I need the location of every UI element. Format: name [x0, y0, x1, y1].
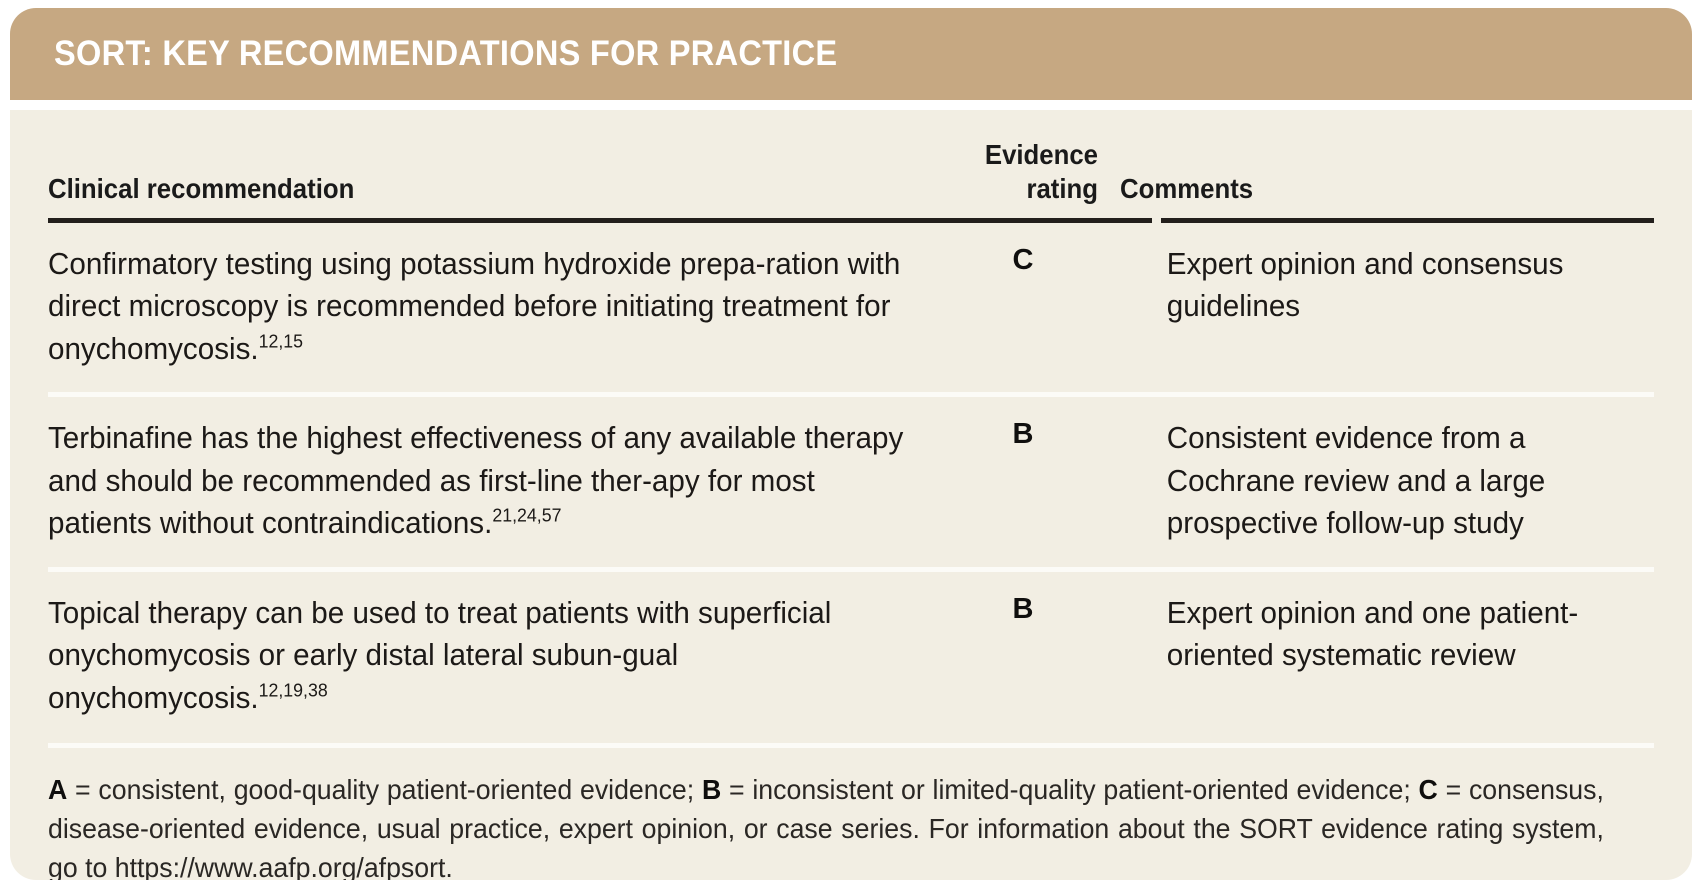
- cell-recommendation: Confirmatory testing using potassium hyd…: [48, 243, 908, 370]
- cell-recommendation: Terbinafine has the highest effectivenes…: [48, 417, 908, 544]
- cell-evidence-rating: C: [948, 243, 1098, 277]
- table-row: Topical therapy can be used to treat pat…: [48, 572, 1654, 741]
- page-title: SORT: KEY RECOMMENDATIONS FOR PRACTICE: [54, 34, 837, 74]
- footnote-label-b: B: [702, 774, 721, 805]
- footnote-label-a: A: [48, 774, 67, 805]
- column-header-comments: Comments: [1120, 172, 1253, 206]
- footnote-label-c: C: [1419, 774, 1438, 805]
- recommendation-references: 21,24,57: [492, 505, 561, 526]
- recommendation-references: 12,19,38: [259, 679, 328, 700]
- cell-comments: Expert opinion and one patient-oriented …: [1098, 592, 1629, 677]
- cell-comments: Consistent evidence from a Cochrane revi…: [1098, 417, 1629, 544]
- footnote: A = consistent, good-quality patient-ori…: [48, 748, 1604, 880]
- table-column-header-row: Clinical recommendation Evidence rating …: [48, 110, 1654, 218]
- recommendation-text: Topical therapy can be used to treat pat…: [48, 595, 831, 715]
- sort-recommendations-table: SORT: KEY RECOMMENDATIONS FOR PRACTICE C…: [0, 0, 1702, 889]
- recommendation-text: Confirmatory testing using potassium hyd…: [48, 246, 900, 366]
- cell-evidence-rating: B: [948, 417, 1098, 451]
- cell-evidence-rating: B: [948, 592, 1098, 626]
- column-header-recommendation: Clinical recommendation: [48, 172, 354, 206]
- footnote-text-a: = consistent, good-quality patient-orien…: [67, 774, 702, 805]
- column-header-evidence-rating-line2: rating: [1026, 173, 1098, 204]
- recommendation-text: Terbinafine has the highest effectivenes…: [48, 420, 903, 540]
- table-title-band: SORT: KEY RECOMMENDATIONS FOR PRACTICE: [10, 8, 1692, 100]
- table-rows: Confirmatory testing using potassium hyd…: [48, 223, 1654, 880]
- table-row: Terbinafine has the highest effectivenes…: [48, 397, 1654, 566]
- cell-comments: Expert opinion and consensus guidelines: [1098, 243, 1629, 328]
- column-header-evidence-rating: Evidence rating: [859, 138, 1098, 206]
- recommendation-references: 12,15: [259, 331, 303, 352]
- column-header-evidence-rating-line1: Evidence: [985, 139, 1098, 170]
- table-body-panel: Clinical recommendation Evidence rating …: [10, 110, 1692, 880]
- footnote-text-b: = inconsistent or limited-quality patien…: [721, 774, 1418, 805]
- table-row: Confirmatory testing using potassium hyd…: [48, 223, 1654, 392]
- cell-recommendation: Topical therapy can be used to treat pat…: [48, 592, 908, 719]
